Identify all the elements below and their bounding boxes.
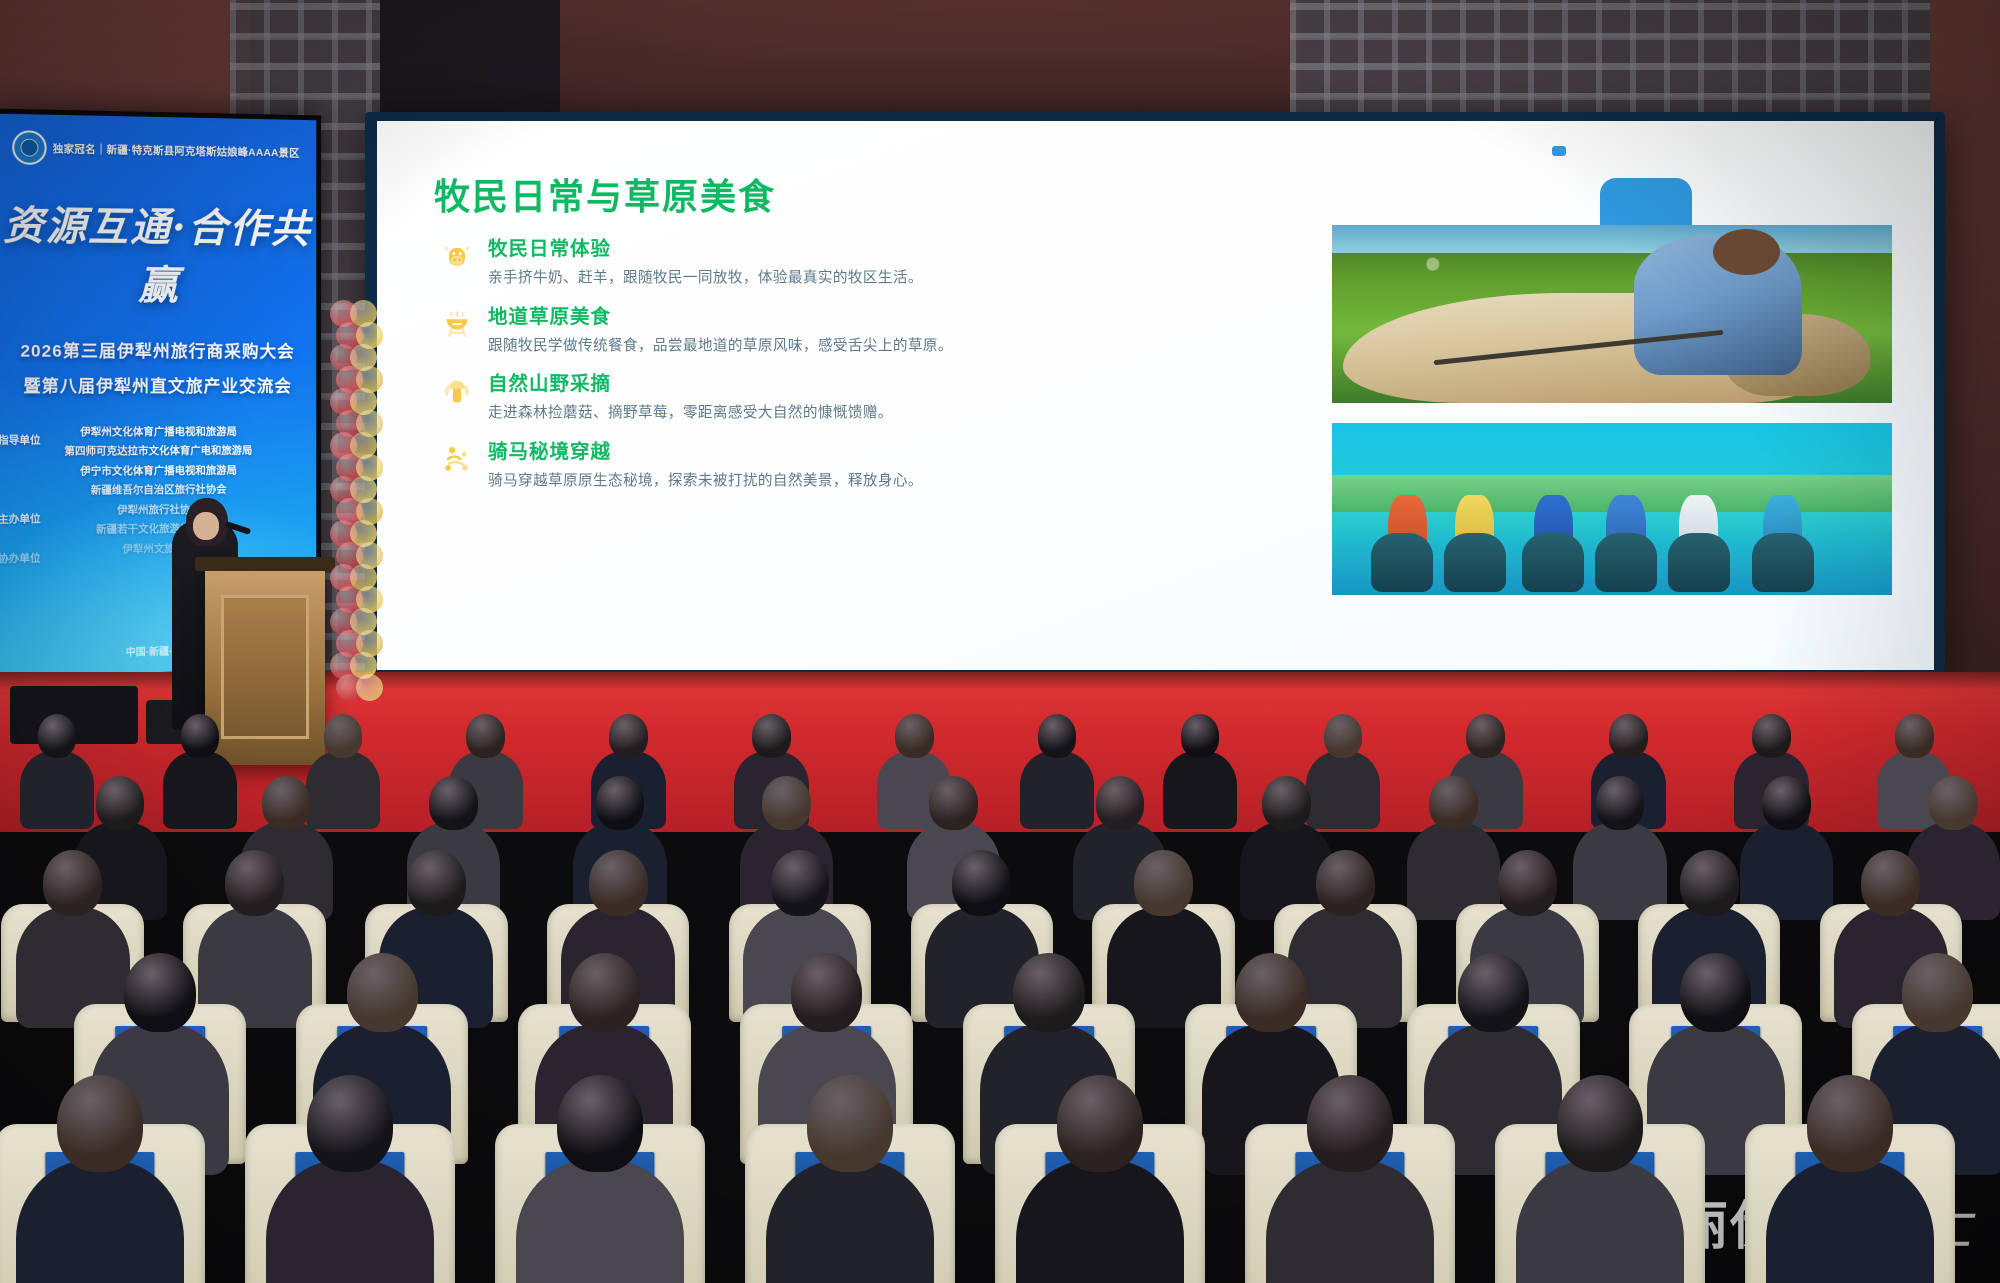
audience-member-head — [1057, 1075, 1144, 1172]
slide-title: 牧民日常与草原美食 — [434, 168, 776, 220]
audience-member-head — [1861, 850, 1920, 916]
decorative-dot — [1552, 146, 1566, 156]
slide-bullet-list: 牧民日常体验 亲手挤牛奶、赶羊，跟随牧民一同放牧，体验最真实的牧区生活。 — [440, 237, 960, 507]
conference-hall-scene: 独家冠名｜新疆·特克斯县阿克塔斯姑娘峰AAAA景区 资源互通·合作共赢 2026… — [0, 0, 2000, 1283]
bullet-description: 走进森林捡蘑菇、摘野草莓，零距离感受大自然的慷慨馈赠。 — [488, 402, 960, 424]
audience-member-head — [96, 776, 144, 830]
audience-member-head — [807, 1075, 894, 1172]
banner-main-title: 资源互通·合作共赢 — [0, 193, 316, 312]
audience-area — [0, 690, 2000, 1283]
audience-member-head — [347, 953, 418, 1033]
audience-member-head — [429, 776, 477, 830]
audience-member-head — [1680, 953, 1751, 1033]
banner-organizations: 指导单位 伊犁州文化体育广播电视和旅游局 第四师可克达拉市文化体育广电和旅游局 … — [0, 423, 316, 561]
bullet-item: 骑马秘境穿越 骑马穿越草原原生态秘境，探索未被打扰的自然美景，释放身心。 — [440, 440, 960, 493]
audience-member-head — [895, 714, 933, 757]
bullet-heading: 自然山野采摘 — [488, 372, 960, 396]
audience-member-head — [181, 714, 219, 757]
bullet-text: 地道草原美食 跟随牧民学做传统餐食，品尝最地道的草原风味，感受舌尖上的草原。 — [488, 305, 960, 358]
sponsor-logo-icon — [12, 130, 46, 165]
banner-subtitle-2: 暨第八届伊犁州直文旅产业交流会 — [0, 372, 316, 397]
audience-member-torso — [1306, 751, 1380, 829]
presenter-face — [193, 512, 219, 540]
audience-member-head — [1807, 1075, 1894, 1172]
audience-member-head — [1557, 1075, 1644, 1172]
bbq-grill-icon — [440, 307, 474, 341]
audience-member-head — [1680, 850, 1739, 916]
bullet-heading: 地道草原美食 — [488, 305, 960, 329]
audience-member-head — [609, 714, 647, 757]
audience-member-head — [1498, 850, 1557, 916]
audience-member-head — [1038, 714, 1076, 757]
bullet-description: 跟随牧民学做传统餐食，品尝最地道的草原风味，感受舌尖上的草原。 — [488, 335, 960, 357]
audience-member-head — [307, 1075, 394, 1172]
herdsman-milking-cow-photo — [1332, 225, 1892, 403]
banner-guidance-label: 指导单位 — [0, 431, 41, 451]
audience-member-head — [57, 1075, 144, 1172]
audience-member-head — [1466, 714, 1504, 757]
audience-member-head — [1895, 714, 1933, 757]
audience-member-head — [1762, 776, 1810, 830]
banner-guidance-unit: 第四师可克达拉市文化体育广电和旅游局 — [0, 442, 316, 463]
banner-subtitle-1: 2026第三届伊犁州旅行商采购大会 — [0, 336, 316, 362]
audience-member-head — [225, 850, 284, 916]
audience-member-head — [762, 776, 810, 830]
audience-member-head — [124, 953, 195, 1033]
audience-member-head — [596, 776, 644, 830]
bullet-text: 自然山野采摘 走进森林捡蘑菇、摘野草莓，零距离感受大自然的慷慨馈赠。 — [488, 372, 960, 425]
banner-guidance-unit: 伊犁州文化体育广播电视和旅游局 — [0, 423, 316, 443]
bullet-text: 牧民日常体验 亲手挤牛奶、赶羊，跟随牧民一同放牧，体验最真实的牧区生活。 — [488, 237, 960, 290]
audience-member-head — [43, 850, 102, 916]
bullet-heading: 骑马秘境穿越 — [488, 440, 960, 464]
audience-member-head — [1609, 714, 1647, 757]
cow-icon — [440, 239, 474, 273]
audience-member-head — [38, 714, 76, 757]
audience-member-head — [1752, 714, 1790, 757]
podium-top — [195, 557, 335, 571]
audience-member-head — [324, 714, 362, 757]
presentation-slide: 牧民日常与草原美食 — [377, 121, 1934, 670]
banner-guidance-unit: 伊宁市文化体育广播电视和旅游局 — [0, 461, 316, 482]
audience-member-head — [752, 714, 790, 757]
audience-member-head — [929, 776, 977, 830]
banner-guidance-unit: 新疆维吾尔自治区旅行社协会 — [0, 480, 316, 502]
audience-member-head — [1596, 776, 1644, 830]
audience-member-head — [1096, 776, 1144, 830]
audience-member-head — [569, 953, 640, 1033]
audience-member-head — [1458, 953, 1529, 1033]
bullet-text: 骑马秘境穿越 骑马穿越草原原生态秘境，探索未被打扰的自然美景，释放身心。 — [488, 440, 960, 493]
audience-member-head — [1429, 776, 1477, 830]
banner-sponsor-text: 独家冠名｜新疆·特克斯县阿克塔斯姑娘峰AAAA景区 — [53, 140, 300, 160]
audience-member-head — [1902, 953, 1973, 1033]
audience-member-head — [1324, 714, 1362, 757]
audience-member-head — [1307, 1075, 1394, 1172]
banner-sponsor-row: 独家冠名｜新疆·特克斯县阿克塔斯姑娘峰AAAA景区 — [0, 114, 316, 170]
mushroom-picking-icon — [440, 374, 474, 408]
audience-member-head — [1013, 953, 1084, 1033]
audience-member-head — [589, 850, 648, 916]
bullet-item: 牧民日常体验 亲手挤牛奶、赶羊，跟随牧民一同放牧，体验最真实的牧区生活。 — [440, 237, 960, 290]
audience-member-head — [1235, 953, 1306, 1033]
bullet-heading: 牧民日常体验 — [488, 237, 960, 261]
bullet-item: 自然山野采摘 走进森林捡蘑菇、摘野草莓，零距离感受大自然的慷慨馈赠。 — [440, 372, 960, 425]
audience-member-torso — [306, 751, 380, 829]
audience-member-head — [1134, 850, 1193, 916]
bullet-item: 地道草原美食 跟随牧民学做传统餐食，品尝最地道的草原风味，感受舌尖上的草原。 — [440, 305, 960, 358]
balloon-column — [330, 300, 380, 685]
audience-member-head — [1181, 714, 1219, 757]
audience-member-head — [557, 1075, 644, 1172]
audience-member-head — [407, 850, 466, 916]
projection-screen-frame: 牧民日常与草原美食 — [365, 112, 1945, 682]
audience-member-head — [771, 850, 830, 916]
audience-member-torso — [163, 751, 237, 829]
audience-member-head — [1316, 850, 1375, 916]
horse-riding-icon — [440, 442, 474, 476]
audience-member-head — [952, 850, 1011, 916]
audience-member-head — [262, 776, 310, 830]
audience-member-head — [1262, 776, 1310, 830]
audience-member-torso — [1020, 751, 1094, 829]
audience-member-torso — [1163, 751, 1237, 829]
bullet-description: 骑马穿越草原原生态秘境，探索未被打扰的自然美景，释放身心。 — [488, 470, 960, 492]
horse-riding-river-crossing-photo — [1332, 423, 1892, 595]
audience-member-head — [791, 953, 862, 1033]
audience-member-torso — [20, 751, 94, 829]
audience-member-head — [466, 714, 504, 757]
audience-member-head — [1929, 776, 1977, 830]
bullet-description: 亲手挤牛奶、赶羊，跟随牧民一同放牧，体验最真实的牧区生活。 — [488, 267, 960, 289]
